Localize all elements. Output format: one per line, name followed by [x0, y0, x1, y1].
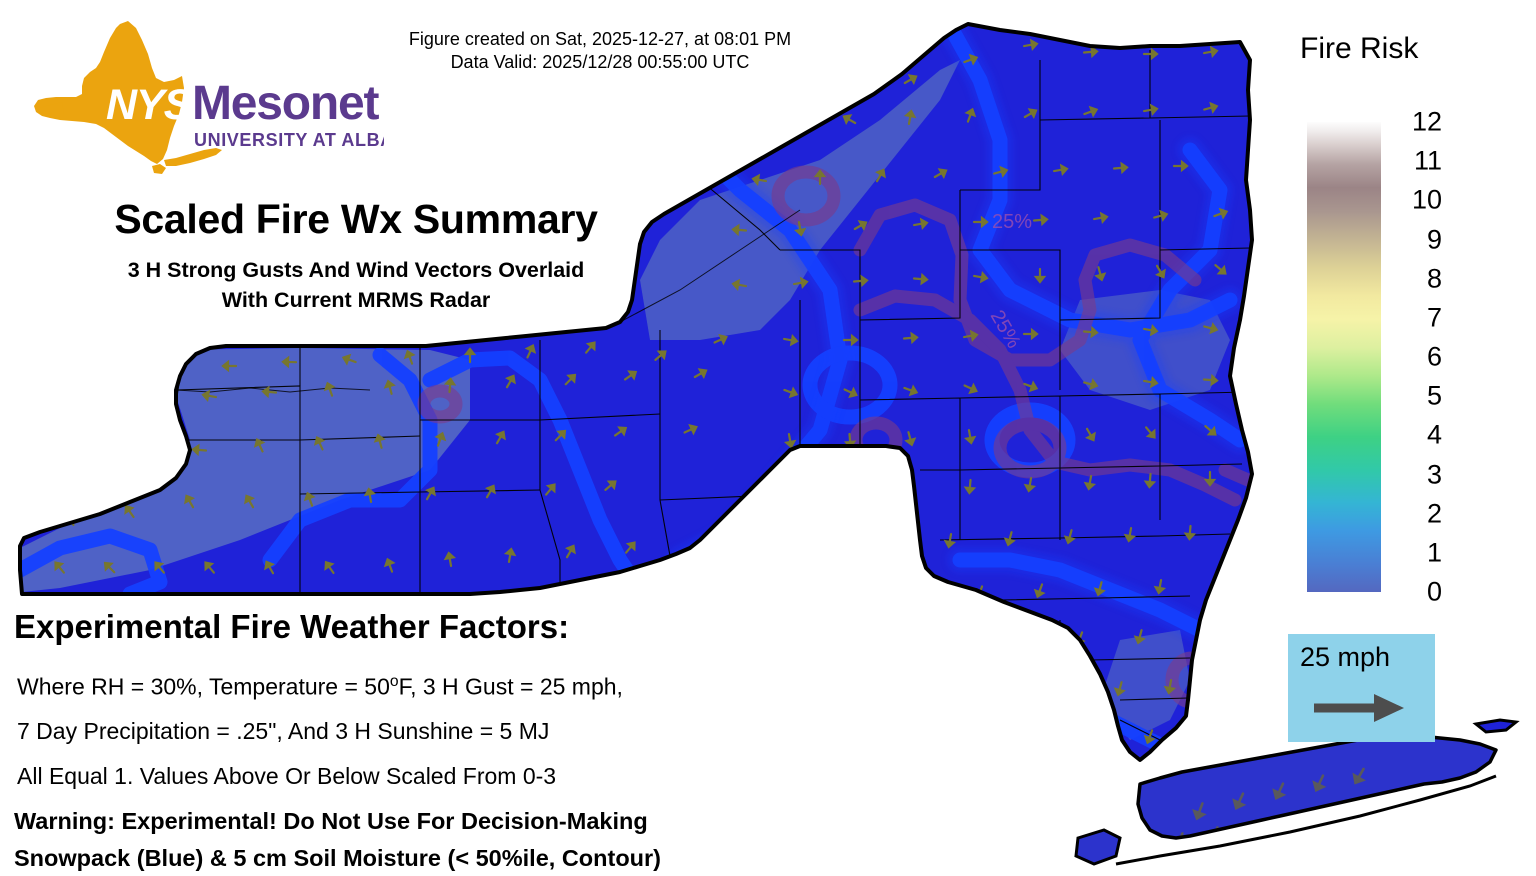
wind-arrow	[845, 434, 854, 448]
wind-arrow	[384, 558, 396, 573]
wind-arrow	[964, 108, 976, 123]
staten-island	[1076, 830, 1120, 864]
wind-arrow	[713, 333, 728, 346]
footer-warning-line-1: Warning: Experimental! Do Not Use For De…	[14, 808, 648, 835]
wind-arrow	[152, 560, 166, 575]
wind-arrow	[783, 386, 798, 398]
wind-arrow	[973, 272, 987, 282]
wind-arrow	[974, 585, 986, 600]
colorbar-tick-12: 12	[1412, 107, 1442, 138]
colorbar-tick-8: 8	[1427, 263, 1442, 294]
wind-arrow	[324, 382, 336, 397]
wind-arrow	[304, 492, 316, 507]
wind-arrow	[1154, 264, 1167, 279]
wind-arrow	[543, 482, 557, 497]
wind-arrow	[563, 372, 578, 387]
wind-arrow	[564, 544, 577, 559]
wind-arrow	[1083, 106, 1098, 118]
wind-arrow	[1095, 266, 1106, 281]
wind-arrow	[1143, 377, 1157, 387]
wind-arrow	[1074, 631, 1086, 646]
wind-arrow	[1125, 527, 1135, 541]
subtitle-line-2: With Current MRMS Radar	[0, 285, 712, 315]
wind-arrow	[193, 445, 207, 454]
wind-arrow	[1114, 163, 1128, 172]
wind-arrow	[1155, 579, 1165, 593]
page-title: Scaled Fire Wx Summary	[0, 196, 712, 243]
subtitle-line-1: 3 H Strong Gusts And Wind Vectors Overla…	[0, 255, 712, 285]
colorbar-tick-labels: 1211109876543210	[1400, 122, 1460, 592]
wind-arrow	[842, 113, 857, 126]
wind-arrow	[1213, 262, 1228, 276]
wind-arrow	[793, 278, 807, 288]
wind-arrow	[102, 560, 117, 575]
figure-created-line: Figure created on Sat, 2025-12-27, at 08…	[330, 28, 870, 51]
wind-arrow	[1144, 50, 1157, 58]
data-valid-line: Data Valid: 2025/12/28 00:55:00 UTC	[330, 51, 870, 74]
wind-arrow	[1204, 375, 1218, 384]
wind-arrow	[905, 431, 916, 446]
wind-arrow	[965, 480, 974, 494]
wind-arrow	[1203, 323, 1218, 334]
degree-superscript: o	[390, 673, 399, 690]
wind-arrow	[732, 280, 746, 290]
wind-arrow	[752, 175, 766, 185]
colorbar-title: Fire Risk	[1300, 32, 1418, 66]
fire-risk-colorbar	[1307, 122, 1381, 592]
wind-arrow	[1053, 165, 1067, 175]
wind-arrow	[1351, 766, 1368, 785]
wind-arrow	[1084, 47, 1098, 56]
wind-arrow	[613, 425, 628, 439]
wind-arrow	[914, 274, 928, 283]
wind-legend-arrow-icon	[1312, 690, 1412, 731]
wind-arrow	[1083, 379, 1098, 390]
wind-arrow	[1094, 581, 1105, 596]
colorbar-tick-4: 4	[1427, 420, 1442, 451]
wind-arrow	[1174, 162, 1187, 170]
wind-arrow	[653, 348, 668, 362]
wind-arrow	[553, 428, 568, 443]
wind-arrow	[466, 349, 474, 362]
wind-arrow	[733, 225, 747, 234]
footer-heading: Experimental Fire Weather Factors:	[14, 608, 569, 646]
wind-arrow	[623, 369, 638, 383]
wind-arrow	[1207, 826, 1222, 844]
wind-arrow	[1185, 526, 1194, 540]
wind-arrow	[1064, 529, 1075, 544]
wind-arrow	[123, 504, 137, 519]
wind-arrow	[1023, 380, 1038, 392]
footer-factor-line-3: All Equal 1. Values Above Or Below Scale…	[17, 763, 556, 790]
wind-arrow	[903, 73, 918, 86]
footer-factor-line-2: 7 Day Precipitation = .25", And 3 H Suns…	[17, 718, 549, 745]
wind-arrow	[854, 276, 868, 285]
wind-arrow	[445, 552, 455, 566]
wind-arrow	[816, 171, 824, 184]
wind-arrow	[993, 166, 1008, 177]
wind-arrow	[1232, 792, 1248, 811]
wind-arrow	[1206, 472, 1214, 485]
colorbar-gradient	[1307, 122, 1381, 592]
wind-arrow	[913, 219, 927, 229]
colorbar-tick-0: 0	[1427, 577, 1442, 608]
long-island-fill	[1138, 736, 1496, 838]
wind-arrow	[263, 387, 277, 396]
wind-arrow	[1145, 474, 1154, 488]
wind-arrow	[1023, 107, 1038, 120]
wind-arrow	[1272, 782, 1288, 801]
wind-arrow	[323, 560, 337, 575]
wind-arrow	[974, 218, 987, 226]
wind-arrow	[782, 114, 797, 126]
logo-nys-text: NYS	[106, 81, 193, 129]
wind-arrow	[785, 433, 795, 447]
wind-arrow	[283, 358, 296, 366]
wind-arrow	[1143, 325, 1157, 335]
wind-arrow	[1153, 210, 1168, 221]
wind-scale-legend: 25 mph	[1288, 634, 1435, 742]
wind-arrow	[963, 54, 978, 66]
factor-line-1-pre: Where RH = 30%, Temperature = 50	[17, 674, 390, 700]
wind-arrow	[783, 335, 797, 345]
wind-arrow	[243, 494, 256, 509]
colorbar-tick-2: 2	[1427, 498, 1442, 529]
wind-arrow	[434, 432, 446, 447]
wind-arrow	[504, 374, 517, 389]
wind-arrow	[52, 560, 66, 575]
wind-arrow	[263, 560, 276, 575]
wind-vectors-long-island	[1172, 766, 1368, 850]
factor-line-1-post: F, 3 H Gust = 25 mph,	[399, 674, 623, 700]
wind-arrow	[843, 386, 858, 399]
wind-arrow	[494, 430, 507, 445]
wind-arrow	[1093, 733, 1106, 748]
wind-arrow	[1165, 679, 1175, 693]
colorbar-tick-7: 7	[1427, 302, 1442, 333]
colorbar-tick-5: 5	[1427, 381, 1442, 412]
wind-arrow	[904, 333, 918, 342]
logo-mesonet-text: Mesonet	[192, 77, 380, 130]
wind-arrow	[693, 367, 708, 380]
wind-arrow	[1134, 629, 1145, 644]
wind-arrow	[1023, 40, 1037, 50]
colorbar-tick-6: 6	[1427, 342, 1442, 373]
wind-arrow	[853, 219, 868, 232]
wind-arrow	[524, 344, 537, 359]
long-island-overlays	[1172, 766, 1368, 850]
wind-arrow	[844, 336, 857, 344]
wind-arrow	[253, 438, 266, 453]
wind-arrow	[903, 384, 918, 396]
wind-arrow	[384, 380, 395, 395]
wind-arrow	[1034, 583, 1046, 598]
snowpack-contour-glow	[680, 26, 1240, 640]
wind-arrow	[1144, 729, 1156, 744]
wind-arrow	[505, 548, 515, 562]
wind-arrow	[1024, 330, 1037, 338]
wind-arrow	[623, 540, 637, 555]
footer-warning-line-2: Snowpack (Blue) & 5 cm Soil Moisture (< …	[14, 845, 661, 872]
wind-arrow	[1004, 531, 1015, 546]
wind-arrow	[424, 486, 437, 501]
figure-timestamps: Figure created on Sat, 2025-12-27, at 08…	[330, 28, 870, 73]
wind-arrow	[365, 488, 375, 502]
soil-moisture-contour-labels: 25% 25%	[986, 211, 1033, 352]
wind-arrow	[313, 436, 326, 451]
wind-arrow	[1025, 477, 1035, 491]
wind-arrow	[1084, 427, 1097, 442]
wind-arrow	[1203, 102, 1218, 113]
wind-arrow	[1213, 208, 1228, 220]
contour-label: 25%	[992, 211, 1032, 233]
wind-arrow	[404, 350, 416, 365]
wind-arrow	[963, 331, 977, 341]
wind-arrow	[374, 434, 385, 449]
colorbar-tick-10: 10	[1412, 185, 1442, 216]
wind-arrow	[1312, 774, 1328, 793]
colorbar-tick-9: 9	[1427, 224, 1442, 255]
wind-arrow	[1203, 423, 1218, 437]
footer-factor-line-1: Where RH = 30%, Temperature = 50oF, 3 H …	[17, 673, 623, 701]
fire-wx-summary-figure: NYS Mesonet UNIVERSITY AT ALBANY Figure …	[0, 0, 1536, 876]
south-shore-line	[1116, 776, 1496, 864]
wind-arrow	[202, 560, 216, 575]
wind-arrow	[603, 478, 618, 492]
wind-arrow	[445, 379, 454, 393]
wind-arrow	[1085, 475, 1095, 489]
wind-arrow	[1054, 683, 1066, 698]
wind-arrow	[63, 512, 77, 527]
wind-arrow	[795, 221, 805, 235]
contour-label: 25%	[986, 307, 1025, 353]
wind-arrow	[905, 110, 915, 124]
wind-legend-label: 25 mph	[1300, 642, 1390, 673]
wind-arrow	[1084, 327, 1098, 336]
wind-arrow	[583, 340, 597, 355]
logo-tagline: UNIVERSITY AT ALBANY	[194, 130, 384, 150]
wind-arrow	[1143, 425, 1157, 440]
wind-arrow	[874, 168, 887, 183]
wind-arrow	[1114, 681, 1125, 696]
wind-arrow	[945, 533, 955, 547]
wind-arrow	[1192, 802, 1207, 820]
page-subtitle: 3 H Strong Gusts And Wind Vectors Overla…	[0, 255, 712, 315]
offshore-island	[1476, 720, 1516, 732]
wind-arrow	[484, 484, 497, 499]
long-island-outline	[1138, 736, 1496, 838]
wind-arrow	[1036, 269, 1044, 282]
wind-arrow	[1034, 215, 1048, 224]
wind-arrow	[845, 484, 854, 498]
wind-arrow	[963, 382, 978, 395]
colorbar-tick-3: 3	[1427, 459, 1442, 490]
colorbar-tick-1: 1	[1427, 537, 1442, 568]
wind-arrow	[683, 423, 698, 436]
wind-arrow	[1203, 47, 1217, 57]
wind-arrow	[933, 167, 948, 180]
wind-arrow	[1143, 105, 1157, 115]
wind-arrow	[1014, 633, 1026, 648]
wind-arrow	[1172, 832, 1187, 850]
wind-arrow	[202, 391, 216, 401]
wind-arrow	[183, 494, 196, 509]
wind-arrow	[223, 362, 236, 370]
wind-arrow	[906, 482, 914, 495]
colorbar-tick-11: 11	[1414, 146, 1442, 177]
wind-arrow	[965, 429, 975, 443]
wind-arrow	[1093, 213, 1107, 223]
wind-arrow	[786, 484, 794, 497]
wind-arrow	[342, 354, 357, 366]
